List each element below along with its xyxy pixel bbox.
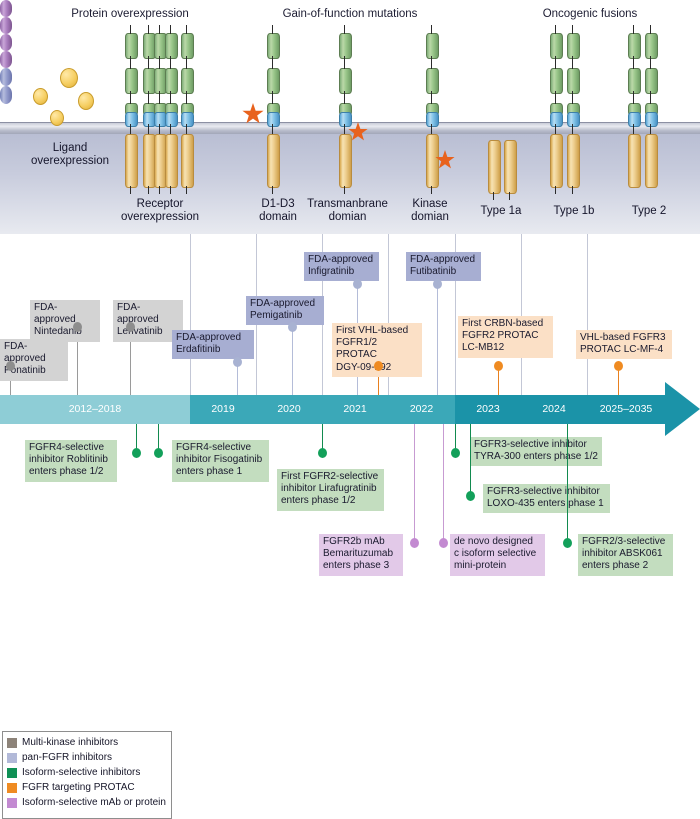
event-stem-7 [443, 424, 444, 543]
kinase-domain [339, 134, 352, 188]
event-dot-0[interactable] [6, 361, 15, 371]
legend-label-2: Isoform-selective inhibitors [22, 767, 140, 778]
linker-d1-d2 [633, 56, 634, 69]
diagram-label-7: Type 2 [620, 205, 678, 218]
ig-domain-d1 [567, 33, 580, 59]
ligand-3 [50, 110, 64, 126]
ig-domain-d2 [628, 68, 641, 94]
section-title-2: Oncogenic fusions [500, 8, 680, 20]
axis-band-label-3: 2021 [322, 395, 388, 424]
event-dot-6[interactable] [433, 279, 442, 289]
kinase-domain [488, 140, 501, 194]
event-dot-2[interactable] [318, 448, 327, 458]
event-box-2: First FGFR2-selective inhibitor Lirafugr… [277, 469, 384, 511]
transmembrane-stalk [572, 124, 573, 134]
linker-d1-d2 [272, 56, 273, 69]
legend-box: Multi-kinase inhibitorspan-FGFR inhibito… [2, 731, 172, 819]
axis-band-label-7: 2025–2035 [587, 395, 665, 424]
transmembrane-stalk [159, 124, 160, 134]
event-box-1: FGFR4-selective inhibitor Fisogatinib en… [172, 440, 269, 482]
axis-band-label-5: 2023 [455, 395, 521, 424]
diagram-label-3: Transmanbrane domian [300, 198, 395, 224]
kinase-domain [628, 134, 641, 188]
transmembrane-stalk [650, 124, 651, 134]
ig-domain-d2 [181, 68, 194, 94]
fusion-partner-extracellular [0, 17, 12, 34]
timeline-panel: 2012–20182019202020212022202320242025–20… [0, 234, 700, 587]
receptor-c-term-stalk [186, 186, 187, 194]
ig-domain-d2 [165, 68, 178, 94]
figure-root: Protein overexpressionGain-of-function m… [0, 0, 700, 587]
axis-band-label-1: 2019 [190, 395, 256, 424]
receptor-c-term-stalk [159, 186, 160, 194]
linker-d2-d3 [572, 91, 573, 104]
timeline-arrowhead [665, 382, 700, 436]
event-box-5: FDA-approved Infigratinib [304, 252, 379, 281]
legend-label-0: Multi-kinase inhibitors [22, 737, 118, 748]
legend-label-4: Isoform-selective mAb or protein [22, 797, 166, 808]
linker-d2-d3 [344, 91, 345, 104]
linker-d2-d3 [633, 91, 634, 104]
receptor-n-term-stalk [148, 25, 149, 34]
receptor-c-term-stalk [431, 186, 432, 194]
event-dot-1[interactable] [154, 448, 163, 458]
ig-domain-d3-lower [645, 112, 658, 127]
event-stem-4 [292, 327, 293, 395]
event-box-6: FGFR2b mAb Bemarituzumab enters phase 3 [319, 534, 403, 576]
event-dot-4[interactable] [288, 322, 297, 332]
ig-domain-d1 [628, 33, 641, 59]
fusion-partner-intracellular [0, 86, 12, 104]
transmembrane-stalk [186, 124, 187, 134]
receptor-c-term-stalk [130, 186, 131, 194]
diagram-label-5: Type 1a [472, 205, 530, 218]
event-box-3: FDA-approved Erdafitinib [172, 330, 254, 359]
linker-d1-d2 [186, 56, 187, 69]
event-box-5: FGFR2/3-selective inhibitor ABSK061 ente… [578, 534, 673, 576]
event-dot-8[interactable] [494, 361, 503, 371]
event-box-3: FGFR3-selective inhibitor TYRA-300 enter… [470, 437, 602, 466]
linker-d1-d2 [130, 56, 131, 69]
receptor-c-term-stalk [272, 186, 273, 194]
receptor-n-term-stalk [572, 25, 573, 34]
linker-d2-d3 [170, 91, 171, 104]
ig-domain-d3-lower [567, 112, 580, 127]
legend-swatch-3 [7, 783, 17, 793]
receptor-n-term-stalk [272, 25, 273, 34]
linker-d2-d3 [186, 91, 187, 104]
linker-d2-d3 [650, 91, 651, 104]
ig-domain-d1 [339, 33, 352, 59]
linker-d1-d2 [572, 56, 573, 69]
axis-tick-6 [521, 234, 522, 395]
ig-domain-d1 [426, 33, 439, 59]
event-dot-4[interactable] [466, 491, 475, 501]
receptor-c-term-stalk [493, 192, 494, 200]
receptor-diagram-panel: Protein overexpressionGain-of-function m… [0, 0, 700, 234]
receptor-n-term-stalk [555, 25, 556, 34]
receptor-n-term-stalk [431, 25, 432, 34]
legend-label-1: pan-FGFR inhibitors [22, 752, 112, 763]
event-dot-1[interactable] [73, 322, 82, 332]
ig-domain-d1 [181, 33, 194, 59]
event-box-7: de novo designed c isoform selective min… [450, 534, 545, 576]
ig-domain-d3-lower [165, 112, 178, 127]
legend-label-3: FGFR targeting PROTAC [22, 782, 135, 793]
event-stem-4 [470, 424, 471, 496]
ligand-1 [60, 68, 78, 88]
event-dot-0[interactable] [132, 448, 141, 458]
kinase-domain [550, 134, 563, 188]
diagram-label-0: Ligand overexpression [10, 142, 130, 168]
ig-domain-d2 [550, 68, 563, 94]
legend-item-2: Isoform-selective inhibitors [7, 765, 167, 780]
transmembrane-stalk [272, 124, 273, 134]
legend-item-1: pan-FGFR inhibitors [7, 750, 167, 765]
legend-item-4: Isoform-selective mAb or protein [7, 795, 167, 810]
event-dot-3[interactable] [451, 448, 460, 458]
legend-swatch-2 [7, 768, 17, 778]
diagram-label-2: D1-D3 domain [248, 198, 308, 224]
transmembrane-stalk [148, 124, 149, 134]
linker-d1-d2 [148, 56, 149, 69]
ig-domain-d1 [267, 33, 280, 59]
ig-domain-d3-lower [267, 112, 280, 127]
ig-domain-d2 [125, 68, 138, 94]
axis-tick-1 [190, 234, 191, 395]
ligand-0 [33, 88, 48, 105]
receptor-n-term-stalk [344, 25, 345, 34]
event-box-8: First CRBN-based FGFR2 PROTAC LC-MB12 [458, 316, 553, 358]
event-box-0: FDA-approved Ponatinib [0, 339, 68, 381]
kinase-domain [125, 134, 138, 188]
event-box-4: FDA-approved Pemigatinib [246, 296, 324, 325]
ig-domain-d1 [125, 33, 138, 59]
event-dot-5[interactable] [563, 538, 572, 548]
event-dot-3[interactable] [233, 357, 242, 367]
transmembrane-stalk [633, 124, 634, 134]
event-box-4: FGFR3-selective inhibitor LOXO-435 enter… [483, 484, 610, 513]
fusion-partner-extracellular [0, 51, 12, 68]
event-stem-6 [414, 424, 415, 543]
transmembrane-stalk [130, 124, 131, 134]
diagram-label-4: Kinase domian [400, 198, 460, 224]
event-dot-7[interactable] [374, 361, 383, 371]
legend-item-0: Multi-kinase inhibitors [7, 735, 167, 750]
linker-d2-d3 [159, 91, 160, 104]
axis-band-label-2: 2020 [256, 395, 322, 424]
kinase-domain [504, 140, 517, 194]
axis-band-label-0: 2012–2018 [0, 395, 190, 424]
ig-domain-d3-lower [339, 112, 352, 127]
legend-swatch-0 [7, 738, 17, 748]
ig-domain-d2 [267, 68, 280, 94]
linker-d2-d3 [148, 91, 149, 104]
axis-band-label-6: 2024 [521, 395, 587, 424]
linker-d2-d3 [431, 91, 432, 104]
ig-domain-d1 [165, 33, 178, 59]
section-title-1: Gain-of-function mutations [250, 8, 450, 20]
receptor-c-term-stalk [170, 186, 171, 194]
kinase-domain [567, 134, 580, 188]
transmembrane-stalk [344, 124, 345, 134]
receptor-n-term-stalk [633, 25, 634, 34]
ligand-2 [78, 92, 94, 110]
event-dot-7[interactable] [439, 538, 448, 548]
ig-domain-d3-lower [426, 112, 439, 127]
ig-domain-d3-lower [628, 112, 641, 127]
ig-domain-d2 [426, 68, 439, 94]
linker-d1-d2 [159, 56, 160, 69]
transmembrane-stalk [555, 124, 556, 134]
ig-domain-d2 [567, 68, 580, 94]
receptor-n-term-stalk [170, 25, 171, 34]
ig-domain-d1 [645, 33, 658, 59]
event-box-1: FDA-approved Nintedanib [30, 300, 100, 342]
kinase-domain [165, 134, 178, 188]
fusion-partner-intracellular [0, 68, 12, 86]
receptor-c-term-stalk [148, 186, 149, 194]
diagram-label-1: Receptor overexpression [105, 198, 215, 224]
ig-domain-d3-lower [550, 112, 563, 127]
kinase-domain [181, 134, 194, 188]
legend-swatch-4 [7, 798, 17, 808]
event-dot-9[interactable] [614, 361, 623, 371]
event-box-9: VHL-based FGFR3 PROTAC LC-MF-4 [576, 330, 672, 359]
fusion-partner-extracellular [0, 0, 12, 17]
receptor-n-term-stalk [650, 25, 651, 34]
receptor-c-term-stalk [344, 186, 345, 194]
linker-d1-d2 [344, 56, 345, 69]
diagram-label-6: Type 1b [545, 205, 603, 218]
section-title-0: Protein overexpression [20, 8, 240, 20]
linker-d1-d2 [170, 56, 171, 69]
fusion-partner-extracellular [0, 34, 12, 51]
event-dot-5[interactable] [353, 279, 362, 289]
ig-domain-d2 [645, 68, 658, 94]
legend-item-3: FGFR targeting PROTAC [7, 780, 167, 795]
event-stem-6 [437, 284, 438, 395]
receptor-n-term-stalk [130, 25, 131, 34]
transmembrane-stalk [431, 124, 432, 134]
kinase-domain [426, 134, 439, 188]
receptor-c-term-stalk [509, 192, 510, 200]
linker-d2-d3 [130, 91, 131, 104]
event-dot-2[interactable] [126, 322, 135, 332]
event-stem-5 [567, 424, 568, 543]
kinase-domain [267, 134, 280, 188]
linker-d2-d3 [272, 91, 273, 104]
receptor-c-term-stalk [572, 186, 573, 194]
receptor-n-term-stalk [186, 25, 187, 34]
event-box-0: FGFR4-selective inhibitor Roblitinib ent… [25, 440, 117, 482]
event-box-6: FDA-approved Futibatinib [406, 252, 481, 281]
transmembrane-stalk [170, 124, 171, 134]
axis-tick-7 [587, 234, 588, 395]
ig-domain-d2 [339, 68, 352, 94]
receptor-c-term-stalk [555, 186, 556, 194]
ig-domain-d3-lower [125, 112, 138, 127]
ig-domain-d3-lower [181, 112, 194, 127]
kinase-domain [645, 134, 658, 188]
axis-band-label-4: 2022 [388, 395, 455, 424]
receptor-n-term-stalk [159, 25, 160, 34]
linker-d1-d2 [650, 56, 651, 69]
linker-d1-d2 [555, 56, 556, 69]
event-dot-6[interactable] [410, 538, 419, 548]
linker-d2-d3 [555, 91, 556, 104]
legend-swatch-1 [7, 753, 17, 763]
linker-d1-d2 [431, 56, 432, 69]
ig-domain-d1 [550, 33, 563, 59]
